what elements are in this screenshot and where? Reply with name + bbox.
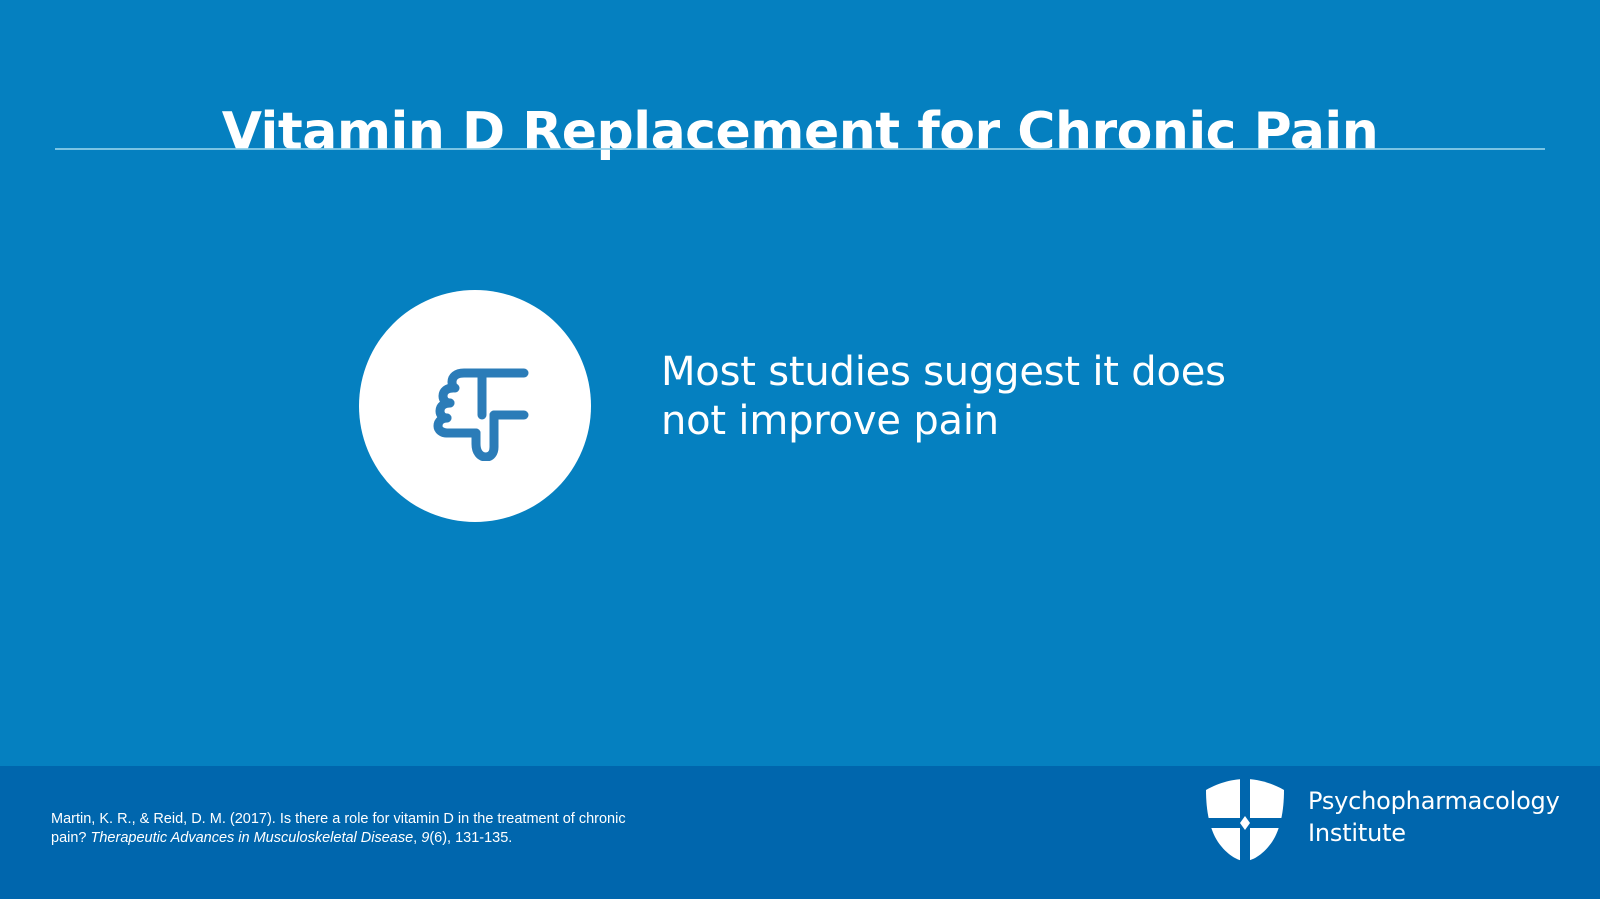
shield-icon xyxy=(1204,778,1286,862)
statement-line-2: not improve pain xyxy=(661,397,1301,446)
statement-text: Most studies suggest it does not improve… xyxy=(661,348,1301,446)
title-area: Vitamin D Replacement for Chronic Pain xyxy=(0,62,1600,132)
icon-badge xyxy=(359,290,591,522)
brand-name-line-2: Institute xyxy=(1308,817,1560,849)
page-title: Vitamin D Replacement for Chronic Pain xyxy=(222,97,1379,167)
footer-bar: Martin, K. R., & Reid, D. M. (2017). Is … xyxy=(0,766,1600,899)
thumbs-down-icon xyxy=(420,351,530,461)
brand-logo: Psychopharmacology Institute xyxy=(1204,778,1534,868)
citation: Martin, K. R., & Reid, D. M. (2017). Is … xyxy=(51,810,651,848)
brand-name: Psychopharmacology Institute xyxy=(1308,785,1560,849)
citation-issue-pages: (6), 131-135. xyxy=(429,830,512,846)
citation-journal: Therapeutic Advances in Musculoskeletal … xyxy=(91,830,414,846)
statement-line-1: Most studies suggest it does xyxy=(661,348,1301,397)
brand-name-line-1: Psychopharmacology xyxy=(1308,785,1560,817)
slide-canvas: Vitamin D Replacement for Chronic Pain M… xyxy=(0,0,1600,899)
title-divider xyxy=(55,148,1545,150)
